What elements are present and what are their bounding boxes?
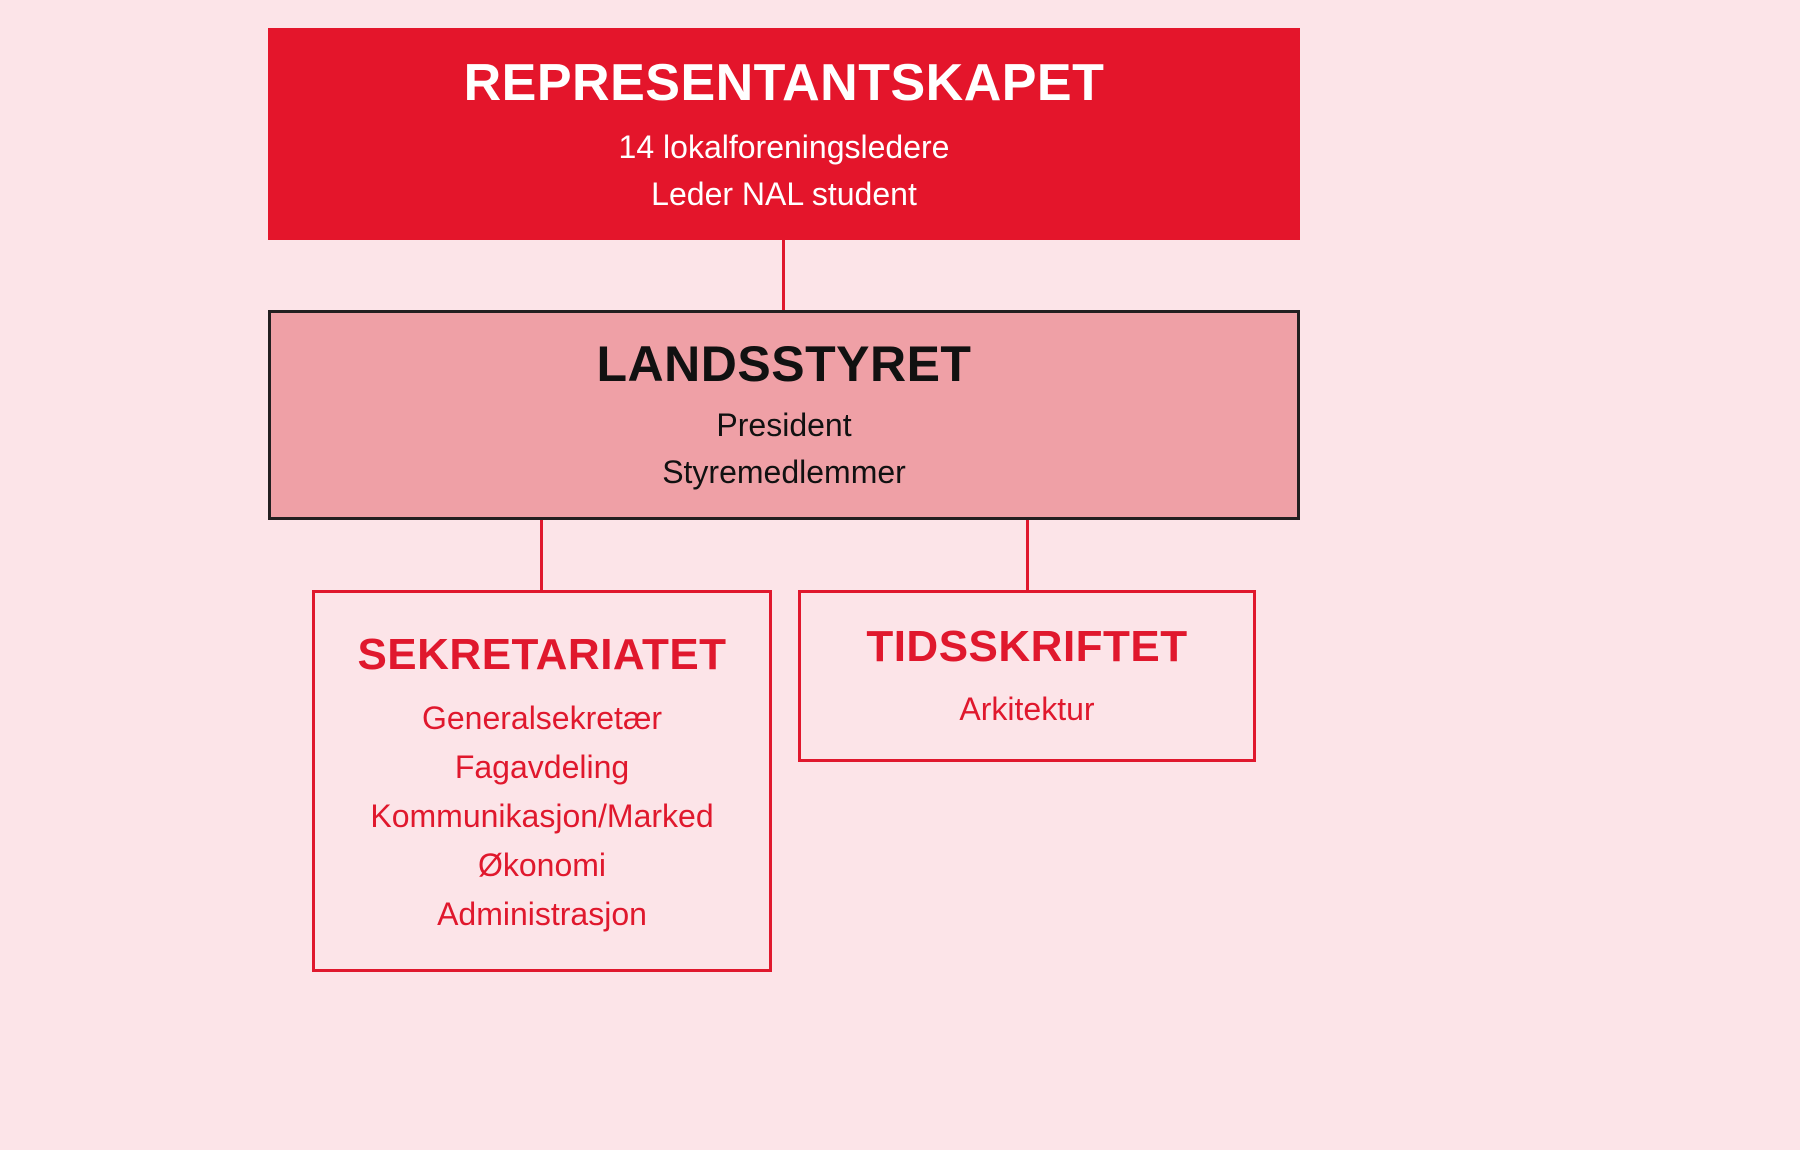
node-sekretariatet-title: SEKRETARIATET	[357, 632, 726, 678]
node-landsstyret-line-2: Styremedlemmer	[662, 452, 906, 493]
node-tidsskriftet-title: TIDSSKRIFTET	[866, 624, 1187, 670]
node-sekretariatet: SEKRETARIATET Generalsekretær Fagavdelin…	[312, 590, 772, 972]
node-representantskapet-line-2: Leder NAL student	[651, 174, 917, 215]
node-sekretariatet-line-4: Økonomi	[478, 845, 606, 886]
node-tidsskriftet: TIDSSKRIFTET Arkitektur	[798, 590, 1256, 762]
node-sekretariatet-line-5: Administrasjon	[437, 894, 647, 935]
node-landsstyret: LANDSSTYRET President Styremedlemmer	[268, 310, 1300, 520]
organizational-chart: REPRESENTANTSKAPET 14 lokalforeningslede…	[0, 0, 1800, 1150]
node-representantskapet-title: REPRESENTANTSKAPET	[464, 56, 1105, 111]
node-tidsskriftet-line-1: Arkitektur	[959, 689, 1094, 730]
connector-landsstyret-to-sekretariatet	[540, 520, 543, 590]
node-sekretariatet-line-2: Fagavdeling	[455, 747, 629, 788]
node-landsstyret-line-1: President	[716, 405, 851, 446]
node-representantskapet-line-1: 14 lokalforeningsledere	[619, 127, 950, 168]
connector-landsstyret-to-tidsskriftet	[1026, 520, 1029, 590]
node-representantskapet: REPRESENTANTSKAPET 14 lokalforeningslede…	[268, 28, 1300, 240]
connector-representantskapet-to-landsstyret	[782, 240, 785, 310]
node-sekretariatet-line-3: Kommunikasjon/Marked	[370, 796, 713, 837]
node-landsstyret-title: LANDSSTYRET	[597, 338, 972, 391]
node-sekretariatet-line-1: Generalsekretær	[422, 698, 662, 739]
